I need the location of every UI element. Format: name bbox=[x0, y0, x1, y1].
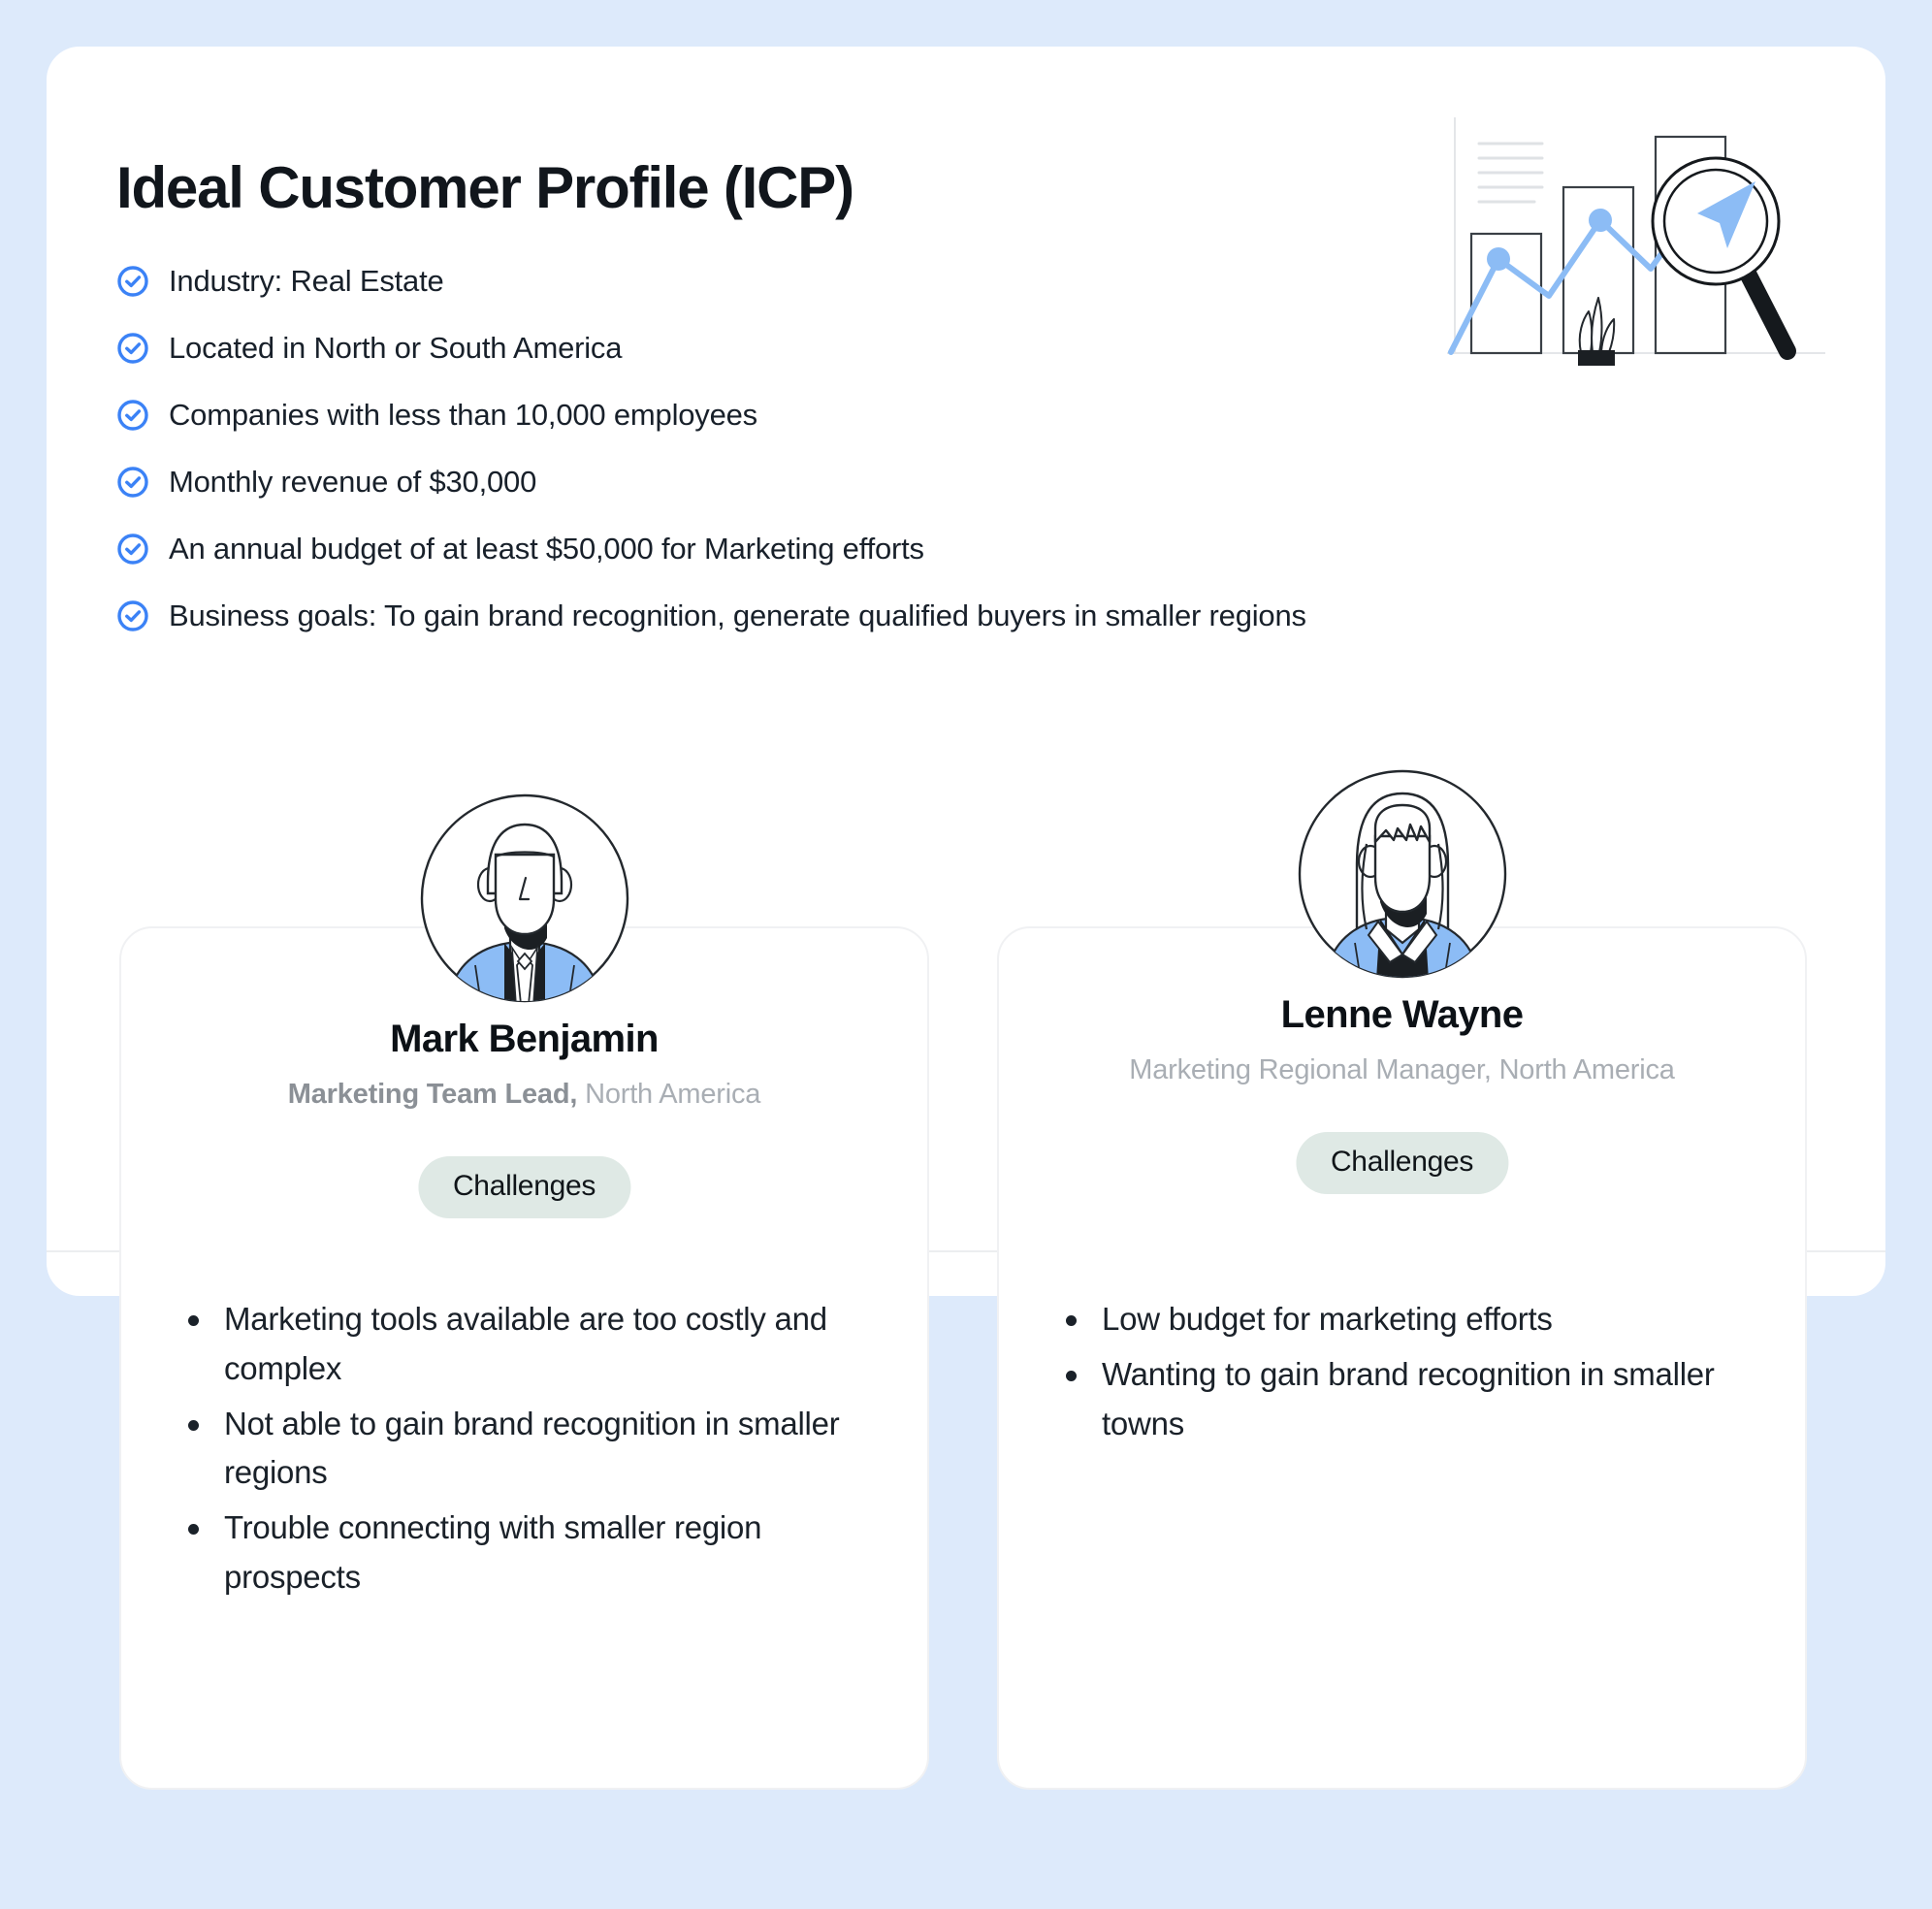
persona-card-mark-benjamin: Mark Benjamin Marketing Team Lead, North… bbox=[119, 926, 929, 1790]
criteria-item: Companies with less than 10,000 employee… bbox=[116, 381, 1765, 448]
challenges-list: Low budget for marketing efforts Wanting… bbox=[1055, 1295, 1760, 1454]
criteria-item-label: An annual budget of at least $50,000 for… bbox=[169, 532, 924, 566]
challenge-item-label: Wanting to gain brand recognition in sma… bbox=[1102, 1356, 1715, 1441]
criteria-item: Monthly revenue of $30,000 bbox=[116, 448, 1765, 515]
persona-card-lenne-wayne: Lenne Wayne Marketing Regional Manager, … bbox=[997, 926, 1807, 1790]
criteria-item-label: Companies with less than 10,000 employee… bbox=[169, 398, 757, 433]
bullet-dot-icon bbox=[188, 1420, 199, 1431]
challenge-item: Marketing tools available are too costly… bbox=[177, 1295, 883, 1394]
male-avatar bbox=[419, 793, 630, 1004]
page-title: Ideal Customer Profile (ICP) bbox=[116, 156, 853, 220]
criteria-item: Industry: Real Estate bbox=[116, 247, 1765, 314]
criteria-item-label: Business goals: To gain brand recognitio… bbox=[169, 599, 1306, 633]
persona-name: Mark Benjamin bbox=[121, 1018, 927, 1061]
criteria-list: Industry: Real Estate Located in North o… bbox=[116, 247, 1765, 649]
persona-role-title: Marketing Regional Manager, North Americ… bbox=[1129, 1054, 1674, 1085]
bullet-dot-icon bbox=[188, 1315, 199, 1326]
challenge-item: Not able to gain brand recognition in sm… bbox=[177, 1400, 883, 1499]
challenges-badge: Challenges bbox=[418, 1156, 630, 1218]
check-circle-icon bbox=[116, 332, 149, 365]
bullet-dot-icon bbox=[188, 1524, 199, 1535]
criteria-item: Business goals: To gain brand recognitio… bbox=[116, 582, 1765, 649]
check-circle-icon bbox=[116, 599, 149, 632]
challenge-item: Wanting to gain brand recognition in sma… bbox=[1055, 1350, 1760, 1449]
challenge-item-label: Marketing tools available are too costly… bbox=[224, 1301, 827, 1386]
persona-role: Marketing Team Lead, North America bbox=[121, 1079, 927, 1111]
criteria-item-label: Industry: Real Estate bbox=[169, 264, 444, 299]
challenge-item-label: Low budget for marketing efforts bbox=[1102, 1301, 1553, 1337]
criteria-item: Located in North or South America bbox=[116, 314, 1765, 381]
challenge-item: Low budget for marketing efforts bbox=[1055, 1295, 1760, 1344]
persona-role-title: Marketing Team Lead, bbox=[288, 1079, 577, 1110]
female-avatar bbox=[1297, 768, 1508, 980]
persona-name: Lenne Wayne bbox=[999, 993, 1805, 1037]
challenge-item-label: Not able to gain brand recognition in sm… bbox=[224, 1406, 839, 1491]
challenges-list: Marketing tools available are too costly… bbox=[177, 1295, 883, 1608]
challenges-badge: Challenges bbox=[1296, 1132, 1508, 1194]
check-circle-icon bbox=[116, 399, 149, 432]
challenge-item-label: Trouble connecting with smaller region p… bbox=[224, 1509, 761, 1595]
check-circle-icon bbox=[116, 533, 149, 566]
bullet-dot-icon bbox=[1066, 1371, 1077, 1381]
criteria-item: An annual budget of at least $50,000 for… bbox=[116, 515, 1765, 582]
check-circle-icon bbox=[116, 466, 149, 499]
bullet-dot-icon bbox=[1066, 1315, 1077, 1326]
persona-role: Marketing Regional Manager, North Americ… bbox=[999, 1054, 1805, 1086]
persona-role-region: North America bbox=[577, 1079, 760, 1110]
criteria-item-label: Monthly revenue of $30,000 bbox=[169, 465, 536, 500]
criteria-item-label: Located in North or South America bbox=[169, 331, 622, 366]
challenge-item: Trouble connecting with smaller region p… bbox=[177, 1504, 883, 1602]
check-circle-icon bbox=[116, 265, 149, 298]
